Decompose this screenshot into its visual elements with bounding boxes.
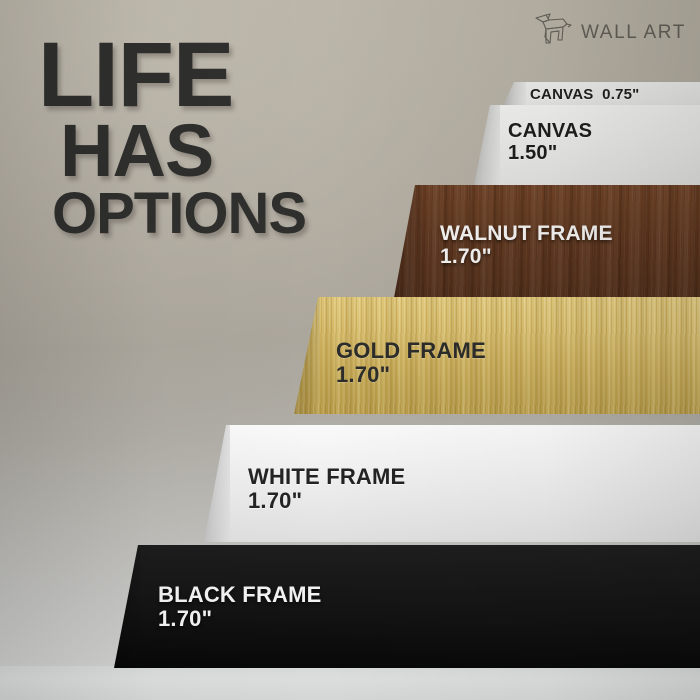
option-walnut-frame[interactable]: WALNUT FRAME 1.70" bbox=[394, 185, 700, 298]
board-edge-shading bbox=[114, 545, 140, 668]
brand-name: WALL ART bbox=[581, 22, 686, 44]
origami-goat-icon bbox=[533, 13, 573, 52]
headline-line-3: OPTIONS bbox=[52, 189, 306, 239]
option-label-walnut-frame: WALNUT FRAME 1.70" bbox=[440, 223, 613, 268]
option-gold-frame[interactable]: GOLD FRAME 1.70" bbox=[294, 297, 700, 414]
option-label-white-frame: WHITE FRAME 1.70" bbox=[248, 465, 405, 513]
board-edge-shading bbox=[474, 105, 500, 185]
board-edge-shading bbox=[204, 425, 230, 542]
board-edge-shading bbox=[394, 185, 420, 298]
headline-line-2: HAS bbox=[60, 119, 306, 183]
option-white-frame[interactable]: WHITE FRAME 1.70" bbox=[204, 425, 700, 542]
option-label-canvas-075: CANVAS 0.75" bbox=[530, 87, 639, 103]
option-black-frame[interactable]: BLACK FRAME 1.70" bbox=[114, 545, 700, 668]
page-title: LIFE HAS OPTIONS bbox=[38, 36, 306, 239]
product-options-poster: LIFE HAS OPTIONS WALL ART CANVAS 0.75" C… bbox=[0, 0, 700, 700]
option-canvas-150[interactable]: CANVAS 1.50" bbox=[474, 105, 700, 185]
headline-line-1: LIFE bbox=[38, 36, 306, 115]
option-label-canvas-150: CANVAS 1.50" bbox=[508, 121, 592, 164]
option-label-black-frame: BLACK FRAME 1.70" bbox=[158, 583, 322, 631]
floor-surface bbox=[0, 666, 700, 700]
option-label-gold-frame: GOLD FRAME 1.70" bbox=[336, 339, 486, 387]
board-edge-shading bbox=[294, 297, 320, 414]
brand-logo: WALL ART bbox=[533, 13, 686, 52]
